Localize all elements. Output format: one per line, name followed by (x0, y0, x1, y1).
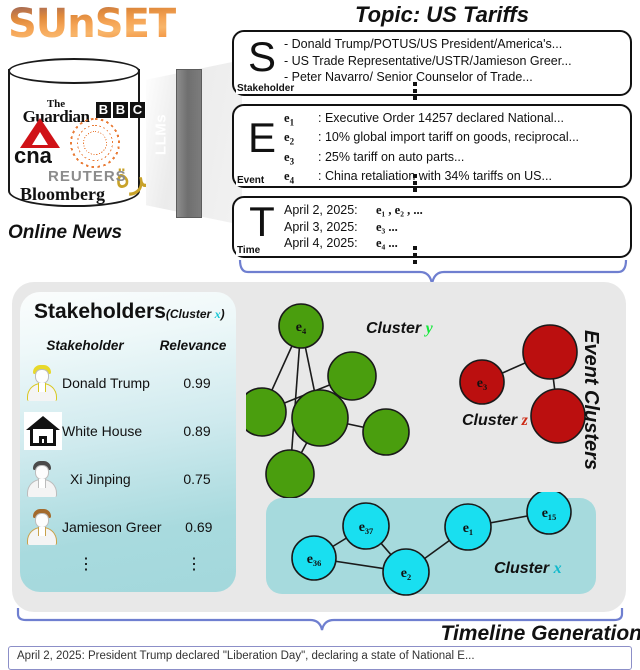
cluster-node[interactable]: e₃₇ (343, 503, 389, 549)
cluster-x-graph: e₃₆e₃₇e₂e₁e₁₅ (246, 492, 612, 602)
event-list: e1: Executive Order 14257 declared Natio… (284, 110, 624, 188)
cluster-node-label: e₃ (477, 376, 487, 391)
event-key: e1 (284, 110, 318, 129)
cluster-node[interactable]: e₄ (279, 304, 323, 348)
relevance-value: 0.69 (162, 519, 236, 535)
cluster-node[interactable] (531, 389, 585, 443)
table-ellipsis-row: ⋮ ⋮ (20, 554, 236, 574)
cluster-node-label: e₂ (401, 566, 411, 581)
list-item: April 4, 2025:e₄ ... (284, 235, 624, 252)
cluster-node-label: e₃₆ (307, 552, 322, 567)
timeline-output-text: April 2, 2025: President Trump declared … (17, 650, 475, 662)
event-key: e2 (284, 129, 318, 148)
stakeholders-title: Stakeholders(Cluster x) (34, 300, 225, 324)
cluster-node[interactable]: e₂ (383, 549, 429, 595)
sunset-logo: SUnSET (8, 2, 198, 46)
person-yellow-hair-avatar (24, 363, 60, 403)
cluster-y-label: Cluster y (366, 320, 433, 338)
cluster-node[interactable] (328, 352, 376, 400)
cluster-node-label: e₄ (296, 320, 307, 335)
list-item: e3: 25% tariff on auto parts... (284, 149, 624, 168)
table-row: Xi Jinping 0.75 (20, 456, 236, 502)
person-dark-hair-avatar (24, 459, 60, 499)
cluster-node[interactable]: e₁ (445, 504, 491, 550)
list-item: April 2, 2025:e₁ , e₂ , ... (284, 202, 624, 219)
ellipsis: ⋮ (152, 554, 236, 574)
event-clusters-side-label: Event Clusters (578, 330, 602, 460)
list-item: - Peter Navarro/ Senior Counselor of Tra… (284, 69, 624, 86)
time-tag: Time (236, 245, 261, 256)
list-item: e4: China retaliation with 34% tariffs o… (284, 168, 624, 187)
stakeholder-letter: S (240, 35, 284, 79)
cylinder-top (8, 58, 140, 84)
cluster-node[interactable] (246, 388, 286, 436)
cluster-node[interactable]: e₃₆ (292, 536, 336, 580)
table-row: White House 0.89 (20, 408, 236, 454)
event-key: e3 (284, 149, 318, 168)
figure-root: SUnSET The Guardian B B C cna الجزيرة RE… (0, 0, 640, 659)
cluster-node-label: e₁ (463, 521, 473, 536)
column-header-relevance: Relevance (150, 338, 236, 353)
cluster-node[interactable] (363, 409, 409, 455)
cluster-node[interactable]: e₃ (460, 360, 504, 404)
cna-logo: cna (14, 118, 68, 164)
timeline-output-box: April 2, 2025: President Trump declared … (8, 646, 632, 670)
cluster-node[interactable] (292, 390, 348, 446)
cluster-node[interactable]: e₁₅ (527, 492, 571, 534)
prism-slab (176, 69, 202, 218)
time-list: April 2, 2025:e₁ , e₂ , ... April 3, 202… (284, 202, 624, 252)
stakeholder-name: White House (60, 423, 158, 439)
page-title: Topic: US Tariffs (252, 2, 632, 28)
time-letter: T (240, 200, 284, 244)
timeline-generation-label: Timeline Generation (330, 622, 640, 646)
stakeholder-name: Xi Jinping (60, 471, 158, 487)
column-header-stakeholder: Stakeholder (20, 338, 150, 353)
table-row: Jamieson Greer 0.69 (20, 504, 236, 550)
list-item: e2: 10% global import tariff on goods, r… (284, 129, 624, 148)
cluster-node[interactable] (266, 450, 314, 498)
event-box: E Event e1: Executive Order 14257 declar… (232, 104, 632, 188)
stakeholders-card: Stakeholders(Cluster x) Stakeholder Rele… (20, 292, 236, 592)
list-item: - US Trade Representative/USTR/Jamieson … (284, 53, 624, 70)
stakeholder-name: Donald Trump (60, 375, 158, 391)
list-item: e1: Executive Order 14257 declared Natio… (284, 110, 624, 129)
llms-label: LLMs (153, 91, 170, 179)
table-header-row: Stakeholder Relevance (20, 338, 236, 353)
event-letter: E (240, 116, 284, 160)
cluster-node-label: e₁₅ (542, 506, 557, 521)
house-icon (24, 411, 60, 451)
ellipsis: ⋮ (20, 554, 152, 574)
cluster-node-label: e₃₇ (359, 520, 374, 535)
time-box: T Time April 2, 2025:e₁ , e₂ , ... April… (232, 196, 632, 258)
list-item: - Donald Trump/POTUS/US President/Americ… (284, 36, 624, 53)
cluster-x-nodes: e₃₆e₃₇e₂e₁e₁₅ (292, 492, 571, 595)
event-tag: Event (236, 175, 265, 186)
cluster-node[interactable] (523, 325, 577, 379)
person-brown-hair-avatar (24, 507, 60, 547)
list-item: April 3, 2025:e₃ ... (284, 219, 624, 236)
online-news-database-icon: The Guardian B B C cna الجزيرة REUTERS B… (8, 58, 140, 218)
stakeholders-subtitle: (Cluster x) (166, 307, 225, 321)
llm-prism: LLMs (146, 60, 242, 225)
s-to-e-dots (413, 82, 417, 103)
e-to-t-dots (413, 174, 417, 195)
stakeholder-name: Jamieson Greer (60, 519, 162, 535)
relevance-value: 0.89 (158, 423, 236, 439)
stakeholder-list: - Donald Trump/POTUS/US President/Americ… (284, 36, 624, 86)
relevance-value: 0.99 (158, 375, 236, 391)
stakeholder-box: S Stakeholder - Donald Trump/POTUS/US Pr… (232, 30, 632, 96)
event-key: e4 (284, 168, 318, 187)
cluster-z-label: Cluster z (462, 412, 528, 430)
table-row: Donald Trump 0.99 (20, 360, 236, 406)
bloomberg-logo: Bloomberg (20, 184, 105, 205)
relevance-value: 0.75 (158, 471, 236, 487)
reuters-logo: REUTERS (48, 168, 127, 185)
online-news-label: Online News (8, 222, 148, 244)
cluster-x-label: Cluster x (494, 560, 562, 578)
